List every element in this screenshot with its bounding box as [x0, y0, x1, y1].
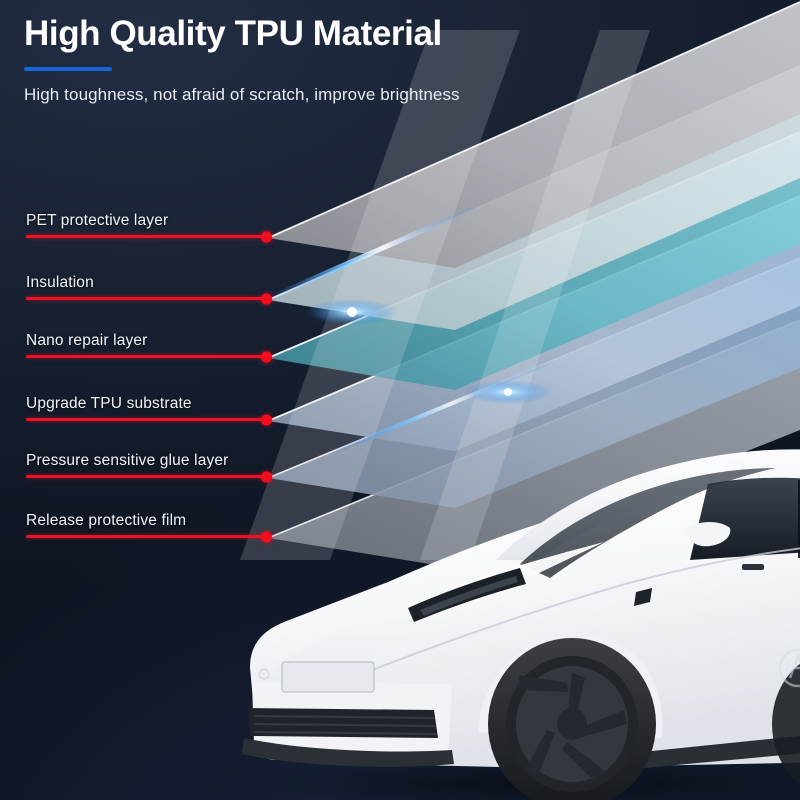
callout-label: PET protective layer [26, 212, 268, 230]
callout-pet-protective-layer: PET protective layer [26, 212, 268, 238]
callout-label: Insulation [26, 274, 268, 292]
infographic-banner: High Quality TPU Material High toughness… [0, 0, 800, 800]
callout-pressure-sensitive-glue-layer: Pressure sensitive glue layer [26, 452, 268, 478]
callout-upgrade-tpu-substrate: Upgrade TPU substrate [26, 395, 268, 421]
callout-label: Upgrade TPU substrate [26, 395, 268, 413]
callout-label: Release protective film [26, 512, 268, 530]
callout-insulation: Insulation [26, 274, 268, 300]
leader-line [26, 535, 268, 538]
leader-line [26, 418, 268, 421]
callout-release-protective-film: Release protective film [26, 512, 268, 538]
callout-label: Nano repair layer [26, 332, 268, 350]
callout-nano-repair-layer: Nano repair layer [26, 332, 268, 358]
leader-line [26, 297, 268, 300]
leader-line [26, 235, 268, 238]
leader-line [26, 475, 268, 478]
callout-label: Pressure sensitive glue layer [26, 452, 268, 470]
leader-line [26, 355, 268, 358]
layer-callouts: PET protective layer Insulation Nano rep… [0, 0, 800, 800]
